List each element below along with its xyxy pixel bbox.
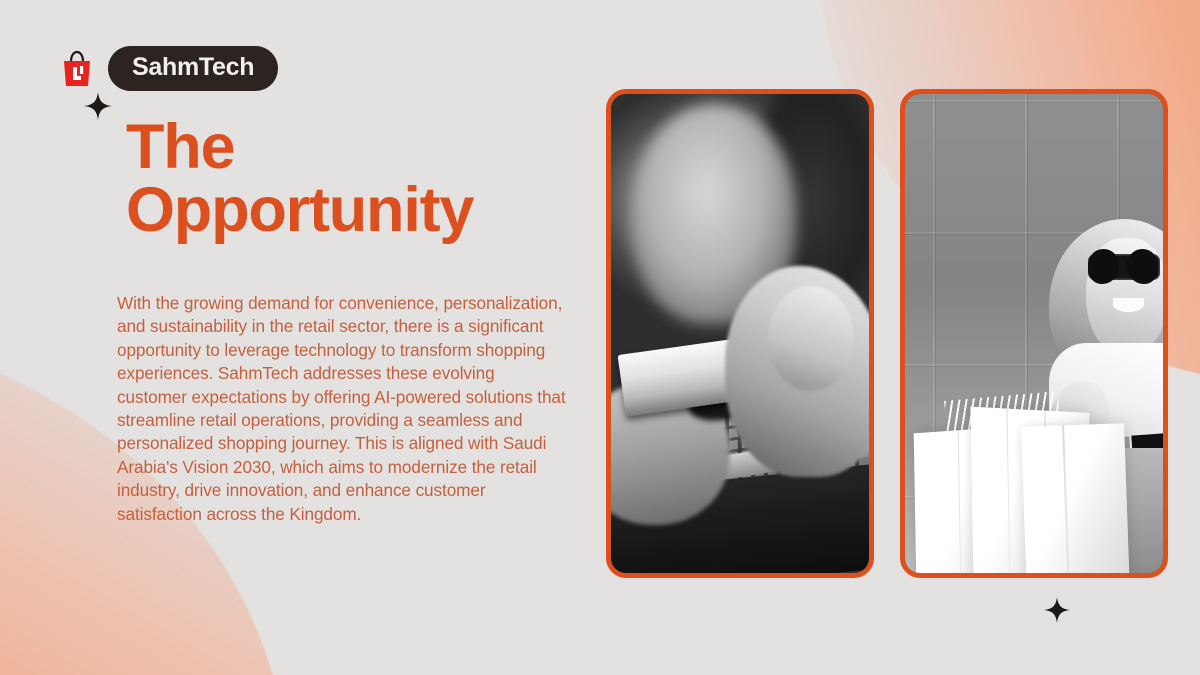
shopper-bags-image: [905, 94, 1163, 573]
body-paragraph: With the growing demand for convenience,…: [117, 292, 569, 526]
photo-card-credit-card-laptop[interactable]: [606, 89, 874, 578]
brand-name-badge: SahmTech: [108, 46, 278, 91]
sparkle-icon: [84, 92, 112, 120]
shopping-bag-logo-icon: [60, 49, 94, 89]
credit-card-laptop-image: [611, 94, 869, 573]
photo-card-group: [606, 89, 1168, 578]
sparkle-icon: [1044, 597, 1070, 623]
slide: SahmTech The Opportunity With the growin…: [0, 0, 1200, 675]
page-title-line1: The: [126, 112, 234, 182]
page-title-line2: Opportunity: [126, 179, 596, 242]
photo-card-shopper-bags[interactable]: [900, 89, 1168, 578]
page-title: The Opportunity: [126, 116, 596, 242]
brand-lockup: SahmTech: [60, 46, 278, 91]
